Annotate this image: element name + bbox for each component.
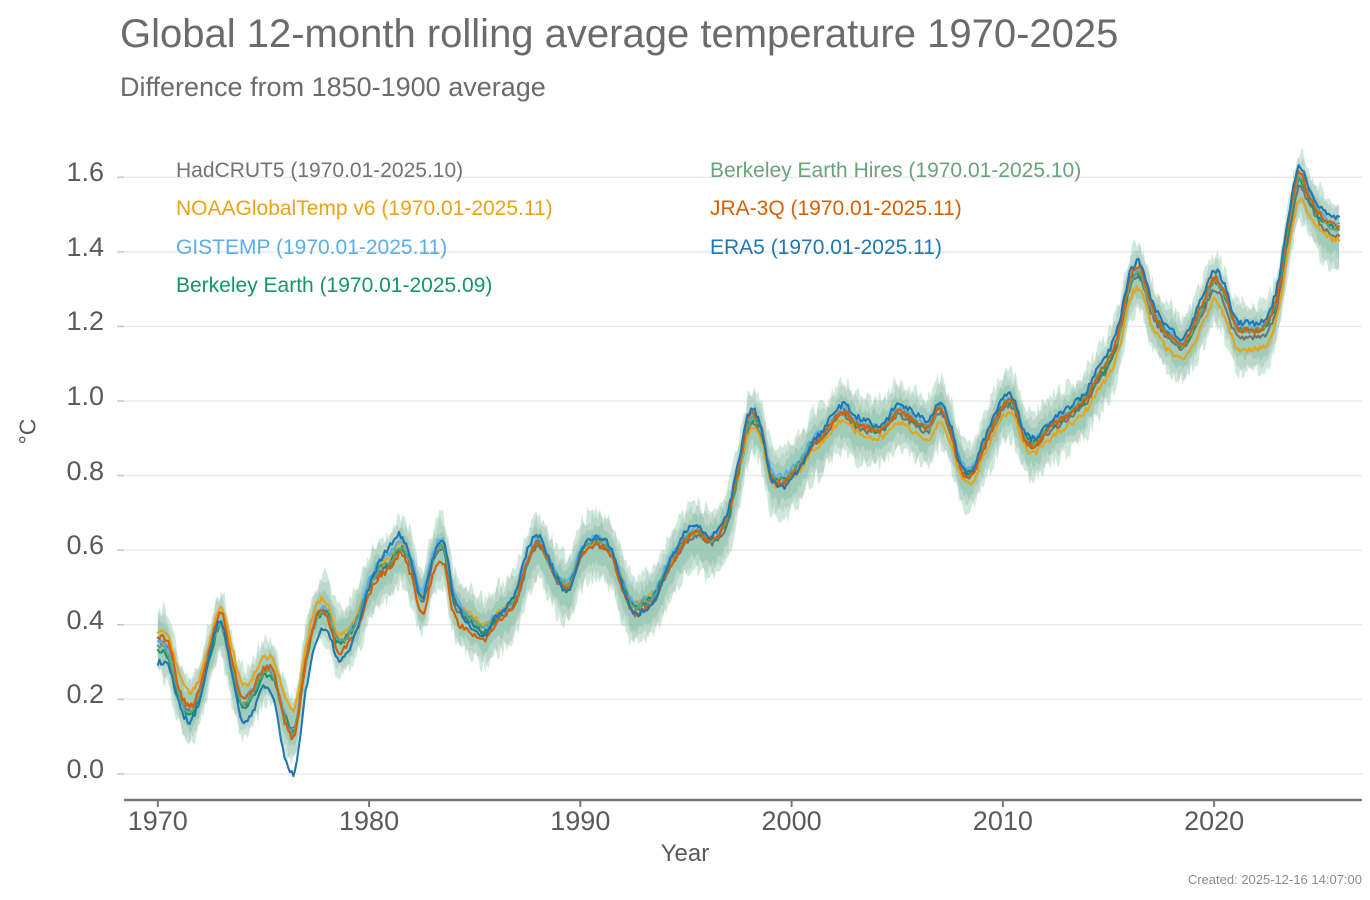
legend-item-jra-3q[interactable]: JRA-3Q (1970.01-2025.11) (710, 198, 962, 219)
legend-item-hadcrut5[interactable]: HadCRUT5 (1970.01-2025.10) (176, 160, 463, 181)
created-timestamp: Created: 2025-12-16 14:07:00 (1188, 872, 1362, 887)
y-tick-label: 1.6 (0, 159, 104, 186)
y-tick-label: 0.8 (0, 458, 104, 485)
x-tick-label: 2010 (973, 806, 1033, 837)
legend-item-noaaglobaltemp[interactable]: NOAAGlobalTemp v6 (1970.01-2025.11) (176, 198, 553, 219)
y-tick-label: 0.2 (0, 681, 104, 708)
legend-item-berkeley[interactable]: Berkeley Earth Hires (1970.01-2025.10) (710, 160, 1081, 181)
x-axis-label: Year (0, 840, 1370, 868)
y-axis-label: °C (15, 412, 42, 452)
chart-figure: Global 12-month rolling average temperat… (0, 0, 1370, 900)
chart-plot-area (0, 0, 1370, 900)
x-tick-label: 1970 (128, 806, 188, 837)
legend-item-gistemp[interactable]: GISTEMP (1970.01-2025.11) (176, 237, 447, 258)
x-tick-label: 1980 (339, 806, 399, 837)
legend-item-berkeley[interactable]: Berkeley Earth (1970.01-2025.09) (176, 275, 492, 296)
x-tick-label: 1990 (550, 806, 610, 837)
y-tick-label: 1.2 (0, 308, 104, 335)
y-tick-label: 0.4 (0, 607, 104, 634)
x-tick-label: 2020 (1184, 806, 1244, 837)
y-tick-label: 0.6 (0, 532, 104, 559)
legend-item-era5[interactable]: ERA5 (1970.01-2025.11) (710, 237, 942, 258)
y-tick-label: 1.0 (0, 383, 104, 410)
y-tick-label: 1.4 (0, 234, 104, 261)
y-tick-label: 0.0 (0, 756, 104, 783)
x-tick-label: 2000 (762, 806, 822, 837)
